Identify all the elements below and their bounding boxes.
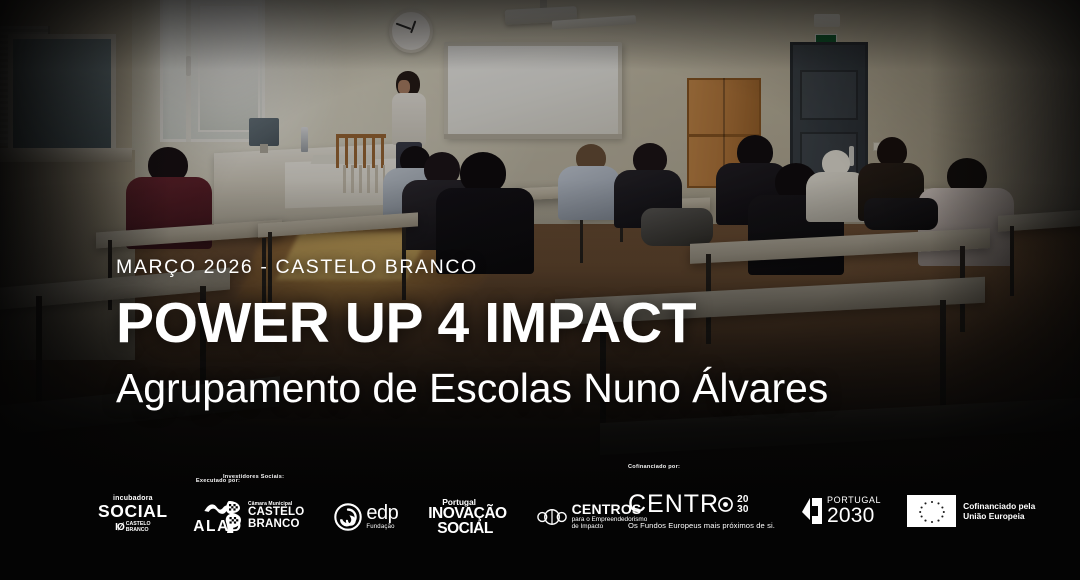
centros-circles-icon	[537, 508, 567, 526]
incubadora-line2: SOCIAL	[98, 503, 168, 521]
centro-tagline: Os Fundos Europeus mais próximos de si.	[628, 521, 775, 530]
ue-line2: União Europeia	[963, 511, 1035, 521]
investidores-sociais-label: Investidores Sociais:	[223, 474, 284, 480]
poster-banner: MARÇO 2026 - CASTELO BRANCO POWER UP 4 I…	[0, 0, 1080, 580]
inovacao-line3: SOCIAL	[437, 521, 506, 537]
logo-inovacao-social: Portugal INOVAÇÃO SOCIAL	[428, 498, 506, 537]
centro-word-cen: CENTR	[628, 492, 719, 517]
edp-spiral-icon	[334, 503, 362, 531]
centro-o-ring-icon	[718, 497, 733, 512]
logo-uniao-europeia: Cofinanciado pela União Europeia	[907, 495, 1035, 527]
logo-incubadora-social: incubadora SOCIAL IØ CASTELO BRANCO	[98, 495, 168, 534]
eu-flag-icon	[907, 495, 956, 527]
page-title: POWER UP 4 IMPACT	[116, 293, 1040, 355]
incubadora-mark-icon: IØ	[115, 523, 124, 533]
page-subtitle: Agrupamento de Escolas Nuno Álvares	[116, 365, 1040, 412]
ue-line1: Cofinanciado pela	[963, 501, 1035, 511]
portugal-2030-mark-icon	[801, 496, 823, 526]
logo-group-investidores: Investidores Sociais:	[223, 498, 647, 537]
logo-portugal-2030: PORTUGAL 2030	[801, 496, 881, 526]
centro-num-top: 20	[737, 495, 749, 505]
camara-line3: BRANCO	[248, 519, 304, 531]
centro-num-bottom: 30	[737, 505, 749, 515]
poster-text-block: MARÇO 2026 - CASTELO BRANCO POWER UP 4 I…	[116, 255, 1040, 412]
cofinanciado-por-label: Cofinanciado por:	[628, 464, 680, 470]
sponsor-logo-bar: incubadora SOCIAL IØ CASTELO BRANCO Exec…	[0, 462, 1080, 580]
edp-wordmark: edp	[366, 503, 398, 523]
event-date-location: MARÇO 2026 - CASTELO BRANCO	[116, 255, 1040, 279]
portugal-2030-line2: 2030	[827, 505, 881, 526]
edp-sub: Fundação	[366, 524, 398, 530]
castelo-branco-crest-icon	[223, 500, 245, 534]
logo-camara-castelo-branco: Câmara Municipal CASTELO BRANCO	[223, 500, 304, 534]
logo-group-cofinanciado: Cofinanciado por: CENTR 20 30	[628, 492, 1035, 530]
incubadora-line3b: BRANCO	[126, 528, 151, 534]
logo-edp-fundacao: edp Fundação	[334, 503, 398, 531]
logo-centro-2030: CENTR 20 30 Os Fundos Europeus mais próx…	[628, 492, 775, 530]
